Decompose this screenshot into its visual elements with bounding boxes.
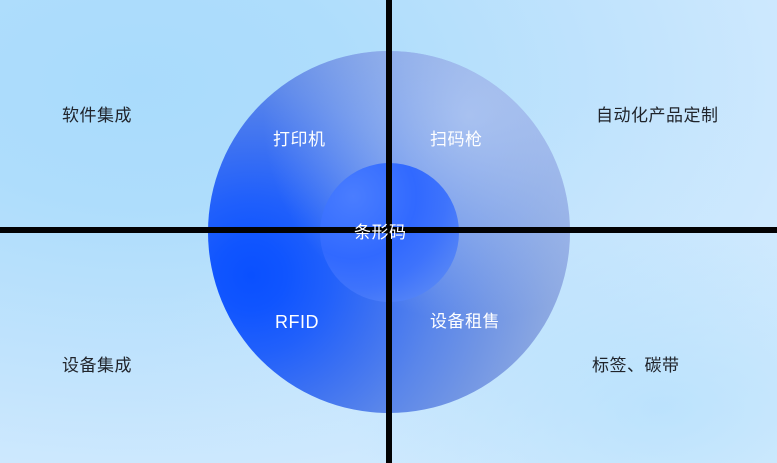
outer-label-automation-customization: 自动化产品定制: [596, 107, 719, 124]
ring-label-rfid: RFID: [275, 313, 319, 331]
ring-label-rental: 设备租售: [430, 313, 500, 330]
ring-label-printer: 打印机: [273, 131, 326, 148]
outer-label-software-integration: 软件集成: [62, 107, 132, 124]
outer-label-labels-ribbons: 标签、碳带: [592, 357, 680, 374]
core-label-barcode: 条形码: [354, 224, 407, 241]
outer-label-device-integration: 设备集成: [62, 357, 132, 374]
diagram-canvas: 软件集成 自动化产品定制 设备集成 标签、碳带 打印机 扫码枪 RFID 设备租…: [0, 0, 777, 463]
ring-label-scanner: 扫码枪: [430, 131, 483, 148]
